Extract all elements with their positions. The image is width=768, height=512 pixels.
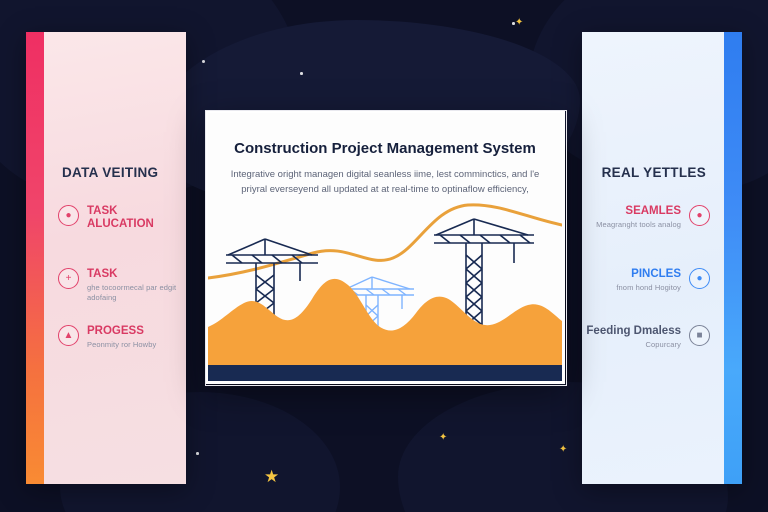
left-panel-spine [26, 32, 44, 484]
left-item-1-heading: TASK [87, 205, 154, 218]
left-item-2[interactable]: + TASK ghe tocoormecal par edgit adofain… [58, 268, 186, 303]
right-item-1-heading: SEAMLES [596, 205, 681, 218]
right-item-3[interactable]: ■ Feeding Dmaless Copurcary [582, 325, 710, 350]
star-icon: ✦ [559, 445, 567, 455]
right-panel-title: REAL YETTLES [602, 165, 706, 180]
left-item-2-sub: ghe tocoormecal par edgit adofaing [87, 283, 186, 303]
left-item-2-heading: TASK [87, 268, 186, 281]
star-icon: ✦ [439, 433, 447, 443]
left-panel [26, 32, 186, 484]
scene-root: ✦ ★ ✦ ✦ ✦ ✦ DATA VEITING ● TASK ALUCATIO… [0, 0, 768, 512]
plus-circle-icon: + [58, 268, 79, 289]
right-item-1[interactable]: ● SEAMLES Meagranght tools analog [582, 205, 710, 230]
left-item-1-subheading: ALUCATION [87, 218, 154, 231]
orange-strip [208, 359, 562, 365]
doc-circle-icon: ■ [689, 325, 710, 346]
left-item-3[interactable]: ▲ PROGESS Peonmity ror Howby [58, 325, 186, 350]
handshake-circle-icon: ● [689, 205, 710, 226]
center-card-inner: Construction Project Management System I… [208, 113, 562, 381]
chart-circle-icon: ▲ [58, 325, 79, 346]
star-icon: ★ [264, 468, 279, 485]
left-item-3-heading: PROGESS [87, 325, 156, 338]
left-item-3-sub: Peonmity ror Howby [87, 340, 156, 350]
right-item-2-sub: fnom hond Hogitoy [616, 283, 681, 293]
right-item-2-heading: PINCLES [616, 268, 681, 281]
right-item-3-sub: Copurcary [586, 340, 681, 350]
star-dot [202, 60, 205, 63]
page-body-text: Integrative oright managen digital seanl… [224, 168, 546, 197]
star-dot [300, 72, 303, 75]
left-panel-title: DATA VEITING [62, 165, 158, 180]
right-item-1-sub: Meagranght tools analog [596, 220, 681, 230]
right-panel-spine [724, 32, 742, 484]
star-dot [196, 452, 199, 455]
navy-band [208, 365, 562, 381]
user-circle-icon: ● [58, 205, 79, 226]
right-item-2[interactable]: ● PINCLES fnom hond Hogitoy [582, 268, 710, 293]
right-item-3-heading: Feeding Dmaless [586, 325, 681, 338]
page-title: Construction Project Management System [218, 140, 552, 157]
right-panel [582, 32, 742, 484]
avatar-circle-icon: ● [689, 268, 710, 289]
left-item-1[interactable]: ● TASK ALUCATION [58, 205, 186, 231]
star-icon: ✦ [515, 18, 523, 28]
